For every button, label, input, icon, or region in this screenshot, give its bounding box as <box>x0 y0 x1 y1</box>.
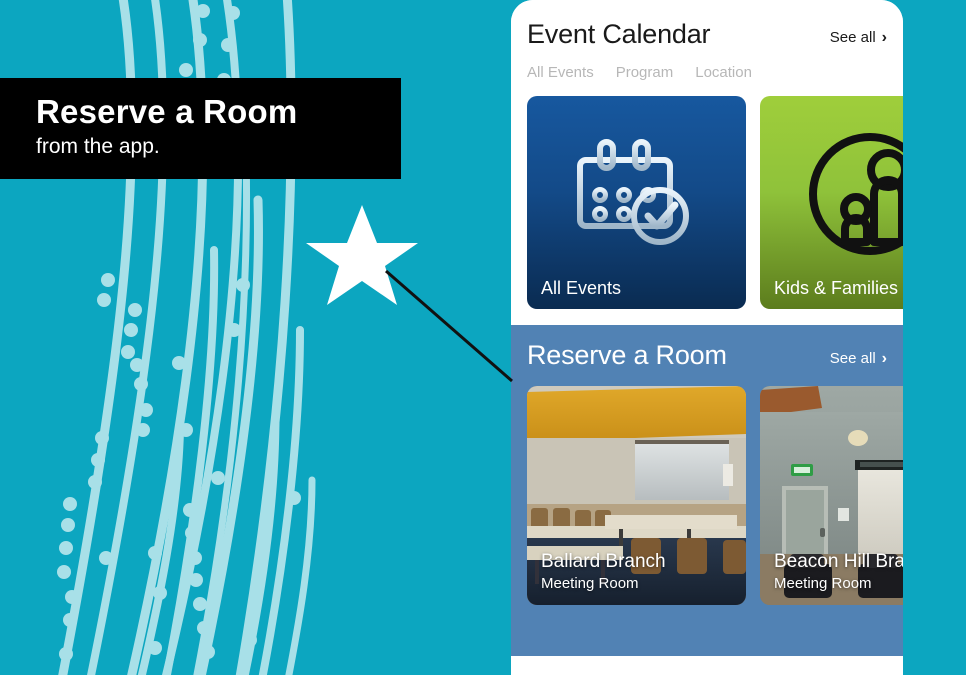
event-filter-tabs: All Events Program Location <box>527 64 887 81</box>
chevron-right-icon: › <box>882 351 887 367</box>
event-card-kids-families[interactable]: Kids & Families <box>760 96 903 309</box>
event-category-cards: All Events Kids & Families <box>527 96 887 309</box>
room-card-text: Beacon Hill Bran Meeting Room <box>774 550 903 593</box>
event-calendar-header: Event Calendar See all › <box>527 18 887 50</box>
event-card-all-events[interactable]: All Events <box>527 96 746 309</box>
event-card-label: Kids & Families <box>774 278 898 299</box>
room-name: Beacon Hill Bran <box>774 550 903 573</box>
room-type: Meeting Room <box>774 574 903 593</box>
filter-tab-all-events[interactable]: All Events <box>527 64 594 81</box>
reserve-a-room-header: Reserve a Room See all › <box>527 339 887 371</box>
phone-screen: Event Calendar See all › All Events Prog… <box>511 0 903 675</box>
calendar-check-icon <box>574 136 700 252</box>
event-card-label: All Events <box>541 278 621 299</box>
reserve-a-room-title: Reserve a Room <box>527 339 727 371</box>
room-card-ballard-branch[interactable]: Ballard Branch Meeting Room <box>527 386 746 605</box>
chevron-right-icon: › <box>882 30 887 46</box>
page-title: Event Calendar <box>527 18 710 50</box>
family-circle-icon <box>806 130 904 258</box>
promo-title: Reserve a Room <box>36 92 401 132</box>
room-type: Meeting Room <box>541 574 666 593</box>
filter-tab-program[interactable]: Program <box>616 64 674 81</box>
filter-tab-location[interactable]: Location <box>695 64 752 81</box>
reserve-a-room-section: Reserve a Room See all › <box>511 325 903 656</box>
promo-banner: Reserve a Room from the app. <box>0 78 401 179</box>
room-name: Ballard Branch <box>541 550 666 573</box>
event-calendar-see-all-link[interactable]: See all › <box>830 29 887 50</box>
event-calendar-section: Event Calendar See all › All Events Prog… <box>511 0 903 309</box>
see-all-label: See all <box>830 29 876 46</box>
promo-subtitle: from the app. <box>36 134 401 160</box>
room-card-beacon-hill-branch[interactable]: Beacon Hill Bran Meeting Room <box>760 386 903 605</box>
room-card-text: Ballard Branch Meeting Room <box>541 550 666 593</box>
reserve-a-room-see-all-link[interactable]: See all › <box>830 350 887 371</box>
see-all-label: See all <box>830 350 876 367</box>
room-cards-list: Ballard Branch Meeting Room <box>527 386 887 605</box>
